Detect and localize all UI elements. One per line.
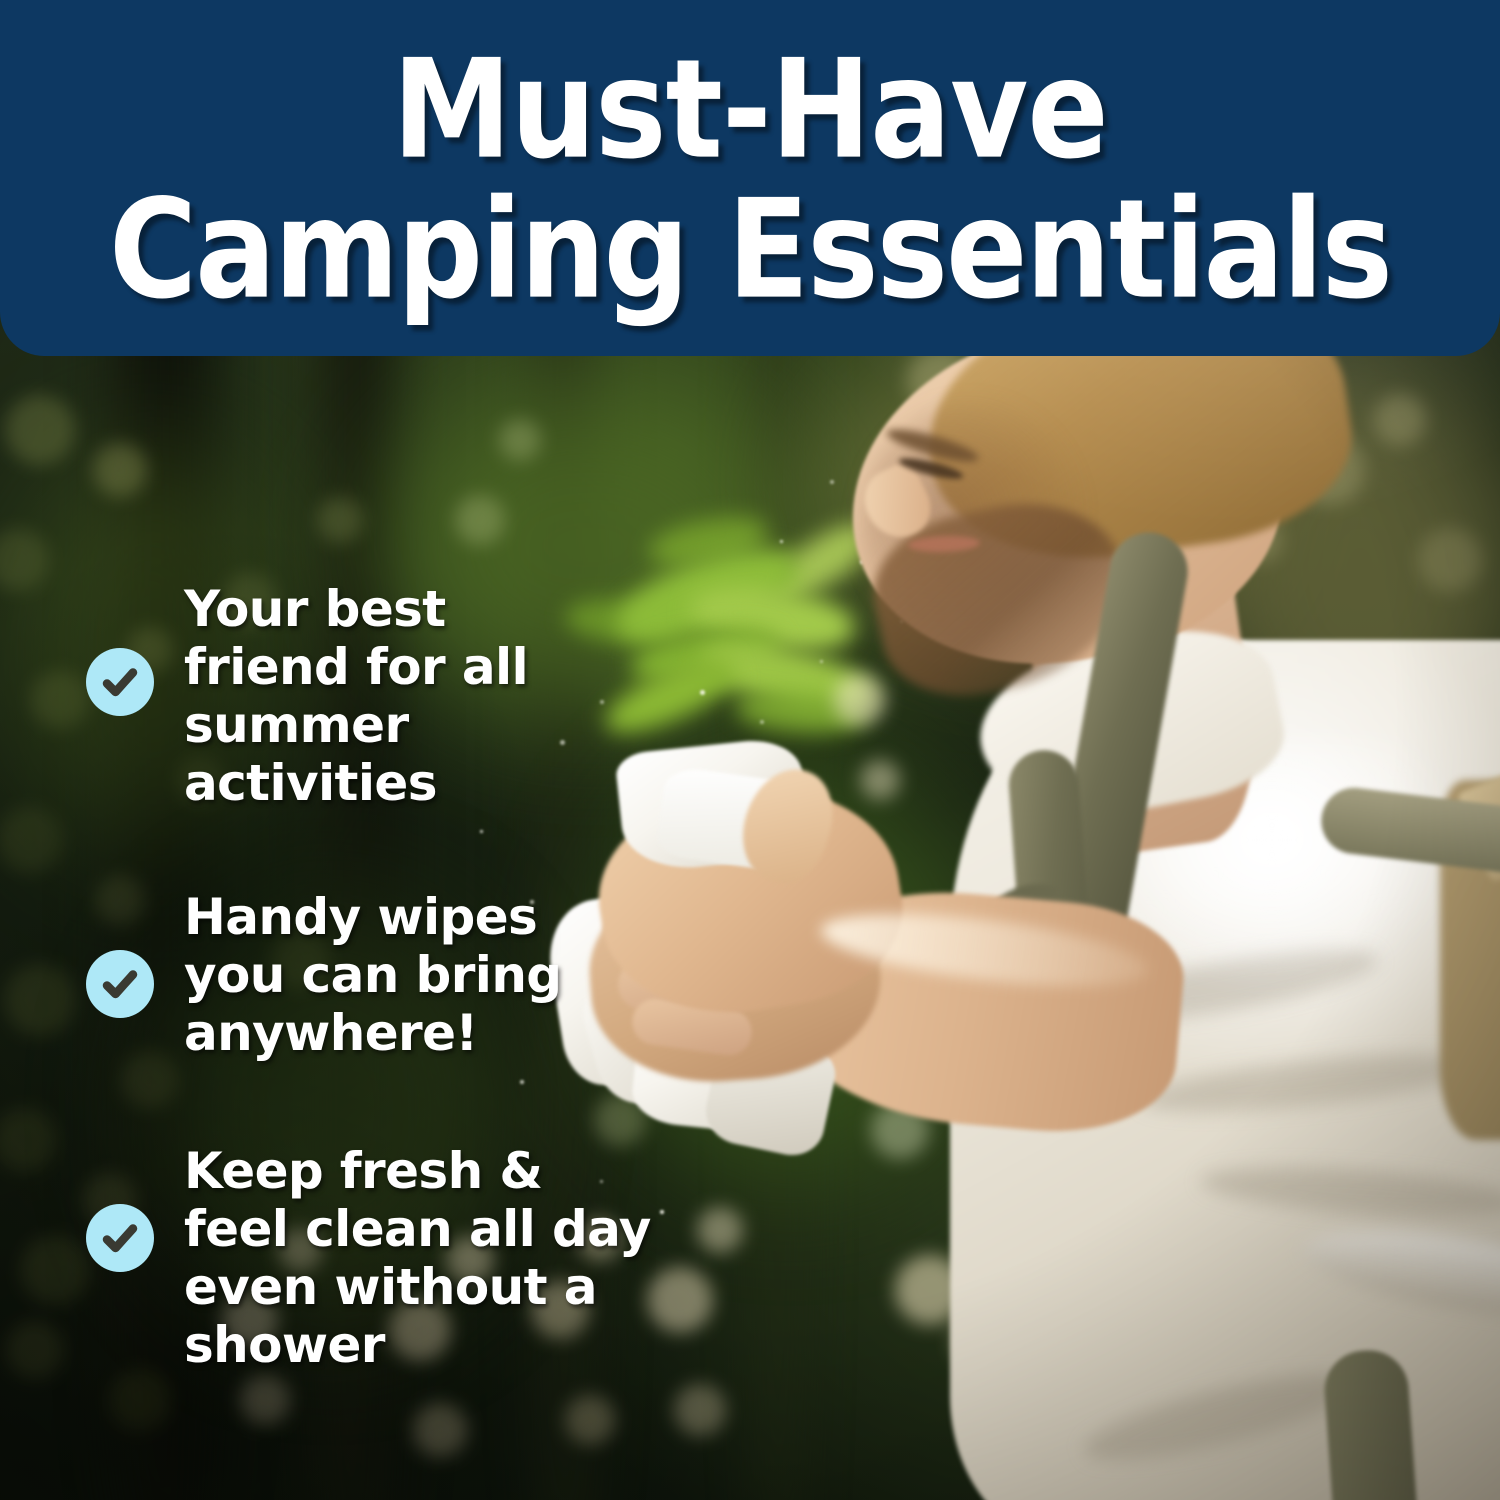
list-item-label: Keep fresh & feel clean all day even wit…: [184, 1142, 654, 1374]
list-item-label: Your best friend for all summer activiti…: [184, 580, 624, 812]
check-circle-icon: [86, 648, 154, 716]
list-item: Keep fresh & feel clean all day even wit…: [0, 1142, 700, 1374]
list-item-label: Handy wipes you can bring anywhere!: [184, 888, 624, 1062]
product-infographic: Must-Have Camping Essentials Your best f…: [0, 0, 1500, 1500]
dust-speck: [700, 690, 705, 695]
dust-speck: [760, 720, 764, 724]
check-circle-icon: [86, 1204, 154, 1272]
bokeh-circle: [697, 1207, 743, 1253]
list-item: Handy wipes you can bring anywhere!: [0, 888, 700, 1062]
list-item: Your best friend for all summer activiti…: [0, 580, 700, 812]
check-circle-icon: [86, 950, 154, 1018]
feature-bullet-list: Your best friend for all summer activiti…: [0, 430, 700, 1450]
page-title-line-2: Camping Essentials: [109, 181, 1391, 321]
header-banner: Must-Have Camping Essentials: [0, 0, 1500, 356]
page-title-line-1: Must-Have: [392, 41, 1107, 181]
